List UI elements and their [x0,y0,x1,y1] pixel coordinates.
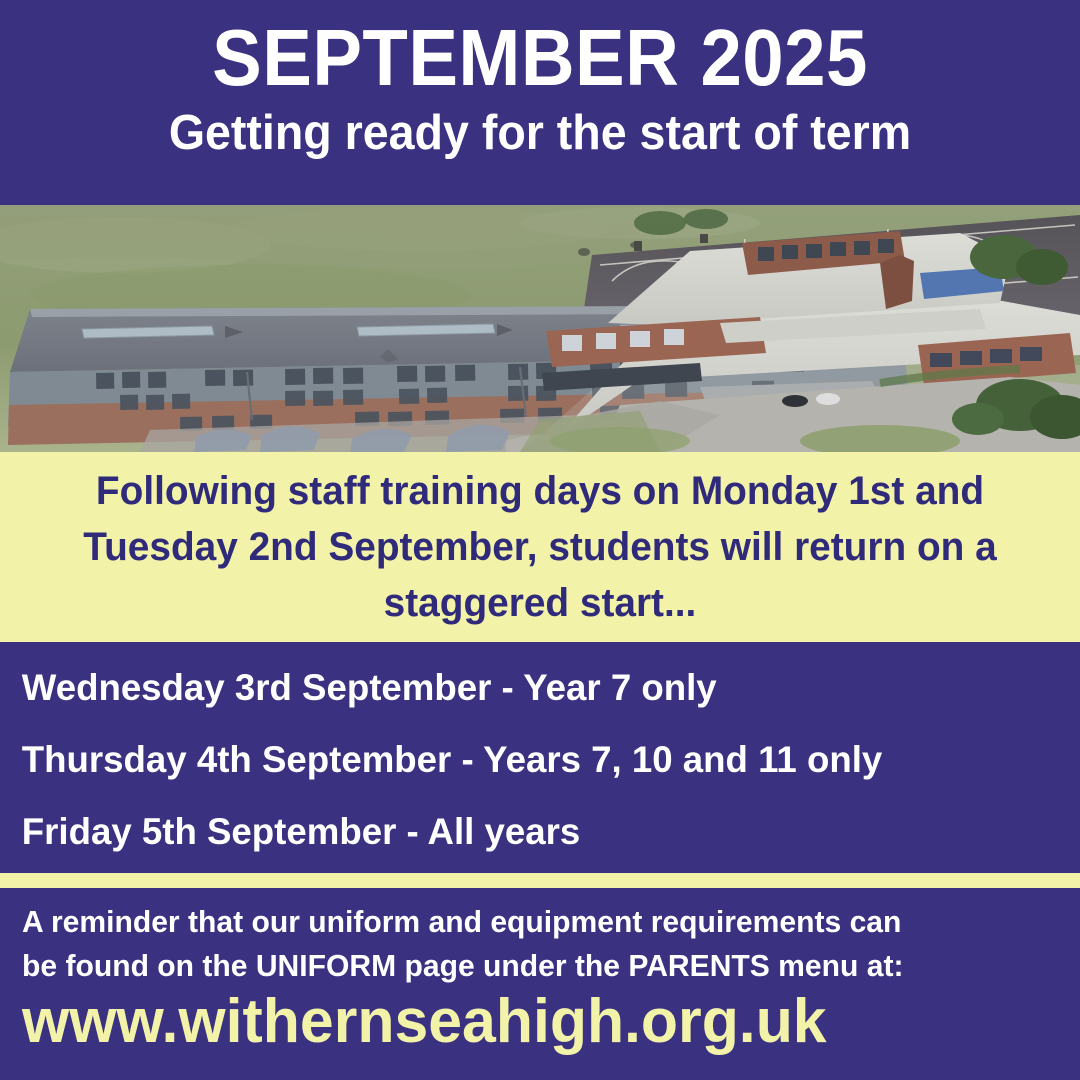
page-title: SEPTEMBER 2025 [38,0,1042,102]
footer-banner: A reminder that our uniform and equipmen… [0,888,1080,1080]
school-aerial-photo [0,205,1080,452]
section-divider [0,873,1080,888]
intro-text: Following staff training days on Monday … [36,463,1045,631]
header-banner: SEPTEMBER 2025 Getting ready for the sta… [0,0,1080,205]
staggered-start-schedule: Wednesday 3rd September - Year 7 only Th… [0,642,1080,873]
uniform-reminder-text: A reminder that our uniform and equipmen… [22,900,924,988]
poster-root: SEPTEMBER 2025 Getting ready for the sta… [0,0,1080,1080]
schedule-row: Thursday 4th September - Years 7, 10 and… [0,724,1069,796]
intro-banner: Following staff training days on Monday … [0,452,1080,642]
school-website-url[interactable]: www.withernseahigh.org.uk [22,984,827,1060]
page-subtitle: Getting ready for the start of term [27,102,1053,162]
schedule-row: Wednesday 3rd September - Year 7 only [0,652,1069,724]
schedule-row: Friday 5th September - All years [0,796,1069,868]
